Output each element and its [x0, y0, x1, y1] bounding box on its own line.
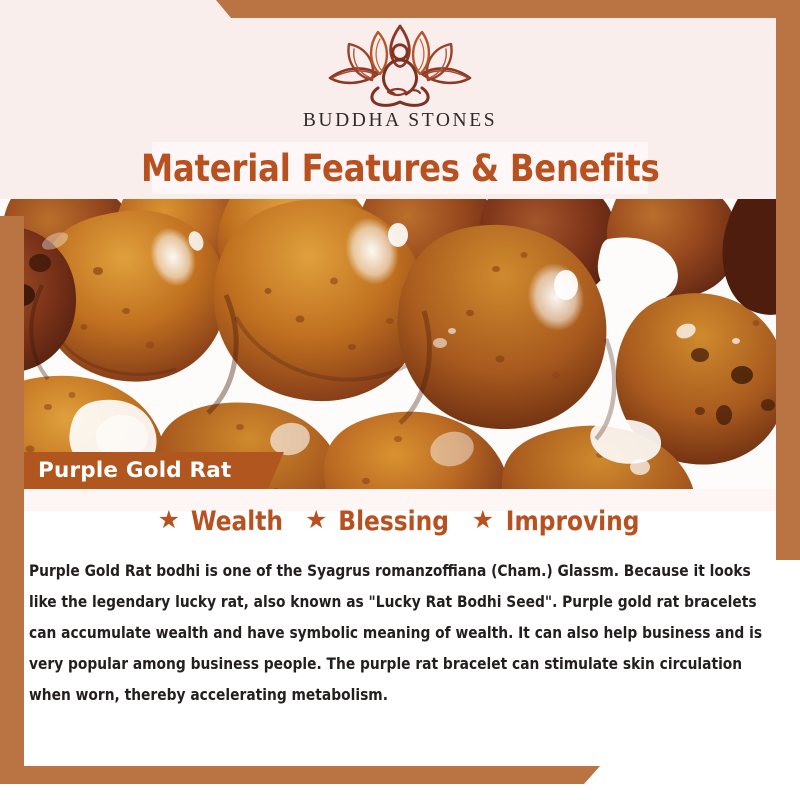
brand-logo: BUDDHA STONES	[0, 22, 800, 132]
benefit-label: Wealth	[191, 508, 283, 535]
title-banner: Material Features & Benefits	[152, 142, 648, 194]
benefits-row: ★ Wealth ★ Blessing ★ Improving	[0, 508, 800, 535]
benefit-label: Blessing	[339, 508, 450, 535]
bodhi-seed-beads-image	[0, 199, 800, 489]
benefit-item-blessing: ★ Blessing	[305, 508, 452, 535]
brand-name: BUDDHA STONES	[0, 110, 800, 132]
lotus-meditation-logo-icon	[316, 22, 484, 108]
label-shape: Purple Gold Rat	[0, 452, 284, 489]
benefit-item-wealth: ★ Wealth	[158, 508, 285, 535]
product-label-banner: Purple Gold Rat	[0, 452, 284, 489]
benefit-item-improving: ★ Improving	[472, 508, 643, 535]
benefit-label: Improving	[506, 508, 640, 535]
description-text: Purple Gold Rat bodhi is one of the Syag…	[29, 556, 763, 711]
product-photo	[0, 199, 800, 489]
star-icon: ★	[472, 508, 494, 533]
page-title: Material Features & Benefits	[141, 150, 659, 187]
star-icon: ★	[158, 508, 180, 533]
product-label: Purple Gold Rat	[38, 458, 232, 483]
product-infographic: BUDDHA STONES Material Features & Benefi…	[0, 0, 800, 800]
star-icon: ★	[305, 508, 327, 533]
